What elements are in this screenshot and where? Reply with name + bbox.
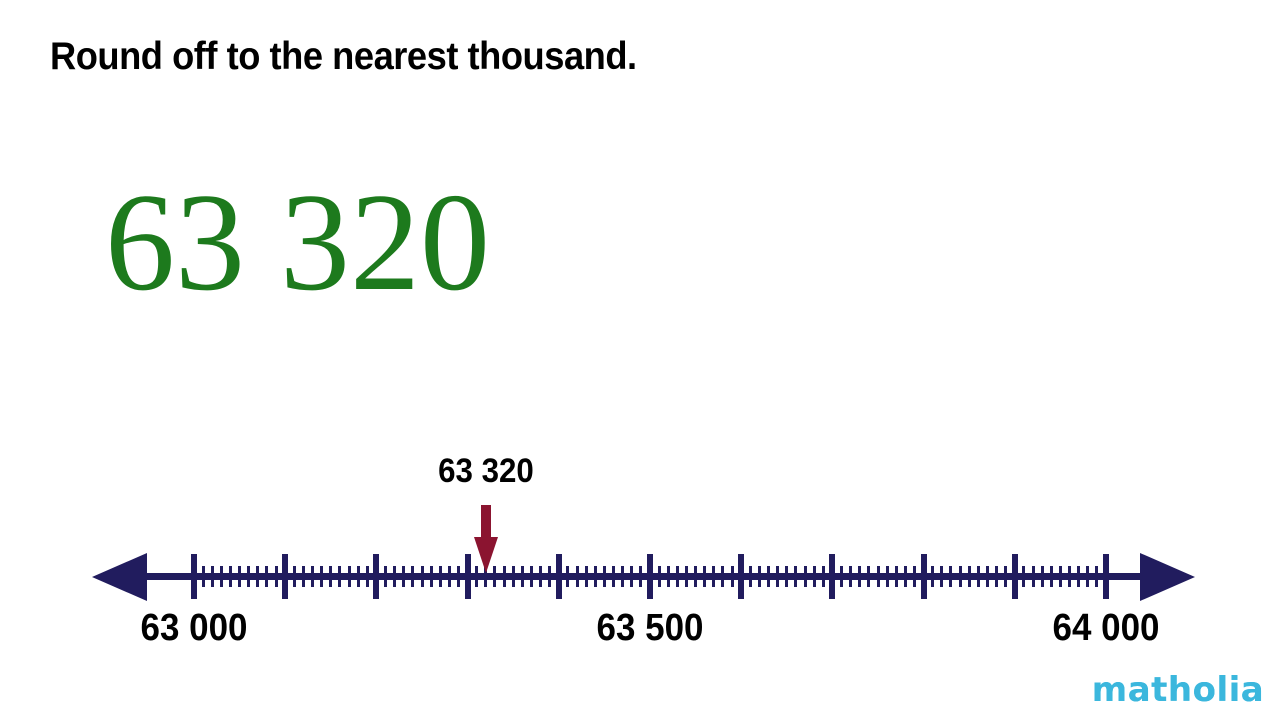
tick-minor <box>247 566 250 587</box>
tick-minor <box>1059 566 1062 587</box>
tick-minor <box>639 566 642 587</box>
tick-major <box>282 554 288 599</box>
tick-minor <box>229 566 232 587</box>
number-line-axis <box>118 573 1178 580</box>
tick-major <box>647 554 653 599</box>
tick-minor <box>439 566 442 587</box>
tick-minor <box>548 566 551 587</box>
tick-minor <box>220 566 223 587</box>
tick-major <box>556 554 562 599</box>
tick-minor <box>1068 566 1071 587</box>
tick-minor <box>721 566 724 587</box>
tick-minor <box>1050 566 1053 587</box>
tick-minor <box>320 566 323 587</box>
tick-minor <box>1004 566 1007 587</box>
tick-minor <box>366 566 369 587</box>
tick-minor <box>1077 566 1080 587</box>
tick-minor <box>402 566 405 587</box>
tick-minor <box>603 566 606 587</box>
tick-minor <box>457 566 460 587</box>
tick-minor <box>931 566 934 587</box>
tick-minor <box>977 566 980 587</box>
tick-minor <box>986 566 989 587</box>
tick-minor <box>940 566 943 587</box>
tick-minor <box>238 566 241 587</box>
tick-minor <box>667 566 670 587</box>
tick-minor <box>712 566 715 587</box>
tick-minor <box>430 566 433 587</box>
tick-minor <box>813 566 816 587</box>
tick-minor <box>311 566 314 587</box>
tick-minor <box>585 566 588 587</box>
tick-minor <box>858 566 861 587</box>
tick-major <box>921 554 927 599</box>
tick-minor <box>1022 566 1025 587</box>
axis-right-arrow-icon <box>1140 553 1195 601</box>
tick-minor <box>384 566 387 587</box>
tick-minor <box>749 566 752 587</box>
tick-minor <box>849 566 852 587</box>
tick-minor <box>329 566 332 587</box>
tick-minor <box>1032 566 1035 587</box>
tick-minor <box>703 566 706 587</box>
tick-minor <box>694 566 697 587</box>
tick-minor <box>475 566 478 587</box>
tick-minor <box>731 566 734 587</box>
tick-minor <box>995 566 998 587</box>
tick-minor <box>256 566 259 587</box>
page-title: Round off to the nearest thousand. <box>50 34 637 80</box>
tick-minor <box>1095 566 1098 587</box>
tick-minor <box>484 566 487 587</box>
tick-minor <box>949 566 952 587</box>
tick-minor <box>521 566 524 587</box>
tick-minor <box>776 566 779 587</box>
tick-minor <box>348 566 351 587</box>
tick-major <box>1012 554 1018 599</box>
tick-minor <box>594 566 597 587</box>
tick-minor <box>503 566 506 587</box>
tick-minor <box>630 566 633 587</box>
tick-minor <box>265 566 268 587</box>
tick-minor <box>293 566 296 587</box>
tick-minor <box>612 566 615 587</box>
tick-minor <box>539 566 542 587</box>
tick-minor <box>421 566 424 587</box>
tick-minor <box>658 566 661 587</box>
tick-major <box>738 554 744 599</box>
marker-arrow-head <box>474 537 498 573</box>
tick-minor <box>411 566 414 587</box>
tick-minor <box>913 566 916 587</box>
tick-minor <box>576 566 579 587</box>
marker-arrow-shaft <box>481 505 491 539</box>
tick-minor <box>393 566 396 587</box>
tick-minor <box>785 566 788 587</box>
tick-minor <box>877 566 880 587</box>
tick-minor <box>493 566 496 587</box>
marker-value-label: 63 320 <box>438 452 534 490</box>
number-line: 63 320 63 00063 50064 000 <box>0 0 1280 720</box>
axis-tick-label: 64 000 <box>1053 606 1160 650</box>
tick-minor <box>621 566 624 587</box>
matholia-logo: matholia matholia <box>1088 668 1268 714</box>
axis-left-arrow-icon <box>92 553 147 601</box>
tick-major <box>1103 554 1109 599</box>
tick-minor <box>676 566 679 587</box>
tick-minor <box>530 566 533 587</box>
tick-minor <box>840 566 843 587</box>
tick-minor <box>1041 566 1044 587</box>
tick-minor <box>1086 566 1089 587</box>
tick-minor <box>804 566 807 587</box>
tick-major <box>829 554 835 599</box>
tick-minor <box>767 566 770 587</box>
tick-minor <box>512 566 515 587</box>
tick-minor <box>959 566 962 587</box>
tick-minor <box>822 566 825 587</box>
tick-minor <box>357 566 360 587</box>
axis-tick-label: 63 000 <box>141 606 248 650</box>
tick-minor <box>886 566 889 587</box>
tick-minor <box>968 566 971 587</box>
tick-major <box>191 554 197 599</box>
displayed-number: 63 320 <box>105 168 490 318</box>
tick-minor <box>302 566 305 587</box>
matholia-logo-text: matholia <box>1088 668 1268 712</box>
tick-major <box>465 554 471 599</box>
tick-minor <box>904 566 907 587</box>
tick-minor <box>867 566 870 587</box>
tick-minor <box>211 566 214 587</box>
tick-minor <box>685 566 688 587</box>
tick-minor <box>794 566 797 587</box>
tick-minor <box>202 566 205 587</box>
tick-minor <box>275 566 278 587</box>
tick-minor <box>895 566 898 587</box>
tick-minor <box>338 566 341 587</box>
tick-major <box>373 554 379 599</box>
axis-tick-label: 63 500 <box>597 606 704 650</box>
tick-minor <box>758 566 761 587</box>
tick-minor <box>448 566 451 587</box>
tick-minor <box>566 566 569 587</box>
